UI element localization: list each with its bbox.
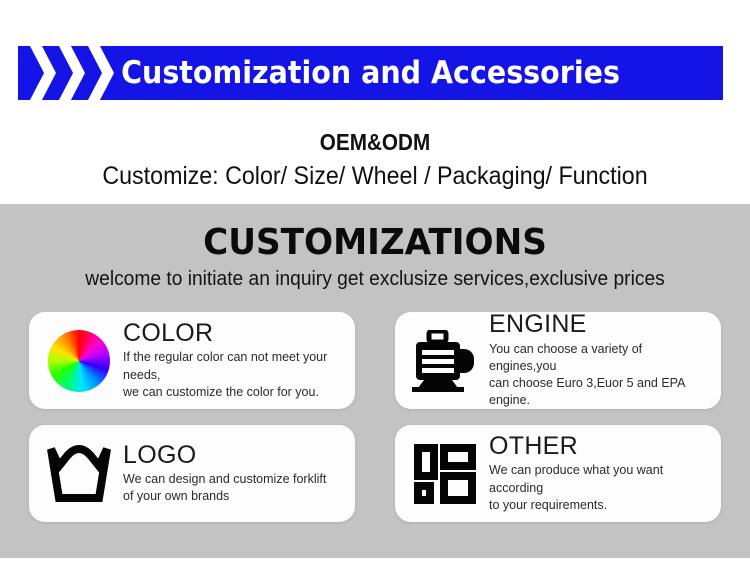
card-title: OTHER	[489, 433, 711, 459]
card-text: OTHER We can produce what you want accor…	[489, 433, 711, 514]
footer-strip	[0, 558, 750, 568]
engine-motor-icon	[409, 325, 481, 397]
section-title: CUSTOMIZATIONS	[19, 222, 732, 263]
promo-page: Customization and Accessories OEM&ODM Cu…	[0, 0, 750, 568]
card-title: LOGO	[123, 442, 345, 468]
grid-layout-icon	[409, 438, 481, 510]
oem-odm-label: OEM&ODM	[38, 129, 713, 156]
card-text: COLOR If the regular color can not meet …	[123, 320, 345, 401]
card-color[interactable]: COLOR If the regular color can not meet …	[29, 312, 355, 409]
headline-banner: Customization and Accessories	[18, 46, 723, 100]
card-text: LOGO We can design and customize forklif…	[123, 442, 345, 506]
card-title: ENGINE	[489, 311, 711, 337]
card-title: COLOR	[123, 320, 345, 346]
customizations-section: CUSTOMIZATIONS welcome to initiate an in…	[0, 204, 750, 558]
card-logo[interactable]: LOGO We can design and customize forklif…	[29, 425, 355, 522]
card-engine[interactable]: ENGINE You can choose a variety of engin…	[395, 312, 721, 409]
card-description: We can design and customize forklift of …	[123, 471, 345, 506]
header-section: Customization and Accessories OEM&ODM Cu…	[0, 0, 750, 204]
customization-cards-grid: COLOR If the regular color can not meet …	[29, 312, 721, 522]
section-subtitle: welcome to initiate an inquiry get exclu…	[15, 268, 735, 291]
card-description: If the regular color can not meet your n…	[123, 349, 345, 401]
card-description: We can produce what you want according t…	[489, 462, 711, 514]
crown-logo-icon	[43, 438, 115, 510]
card-text: ENGINE You can choose a variety of engin…	[489, 311, 711, 409]
banner-title: Customization and Accessories	[46, 46, 695, 100]
customize-options-label: Customize: Color/ Size/ Wheel / Packagin…	[26, 162, 724, 191]
card-description: You can choose a variety of engines,you …	[489, 341, 711, 410]
card-other[interactable]: OTHER We can produce what you want accor…	[395, 425, 721, 522]
color-wheel-icon	[43, 325, 115, 397]
